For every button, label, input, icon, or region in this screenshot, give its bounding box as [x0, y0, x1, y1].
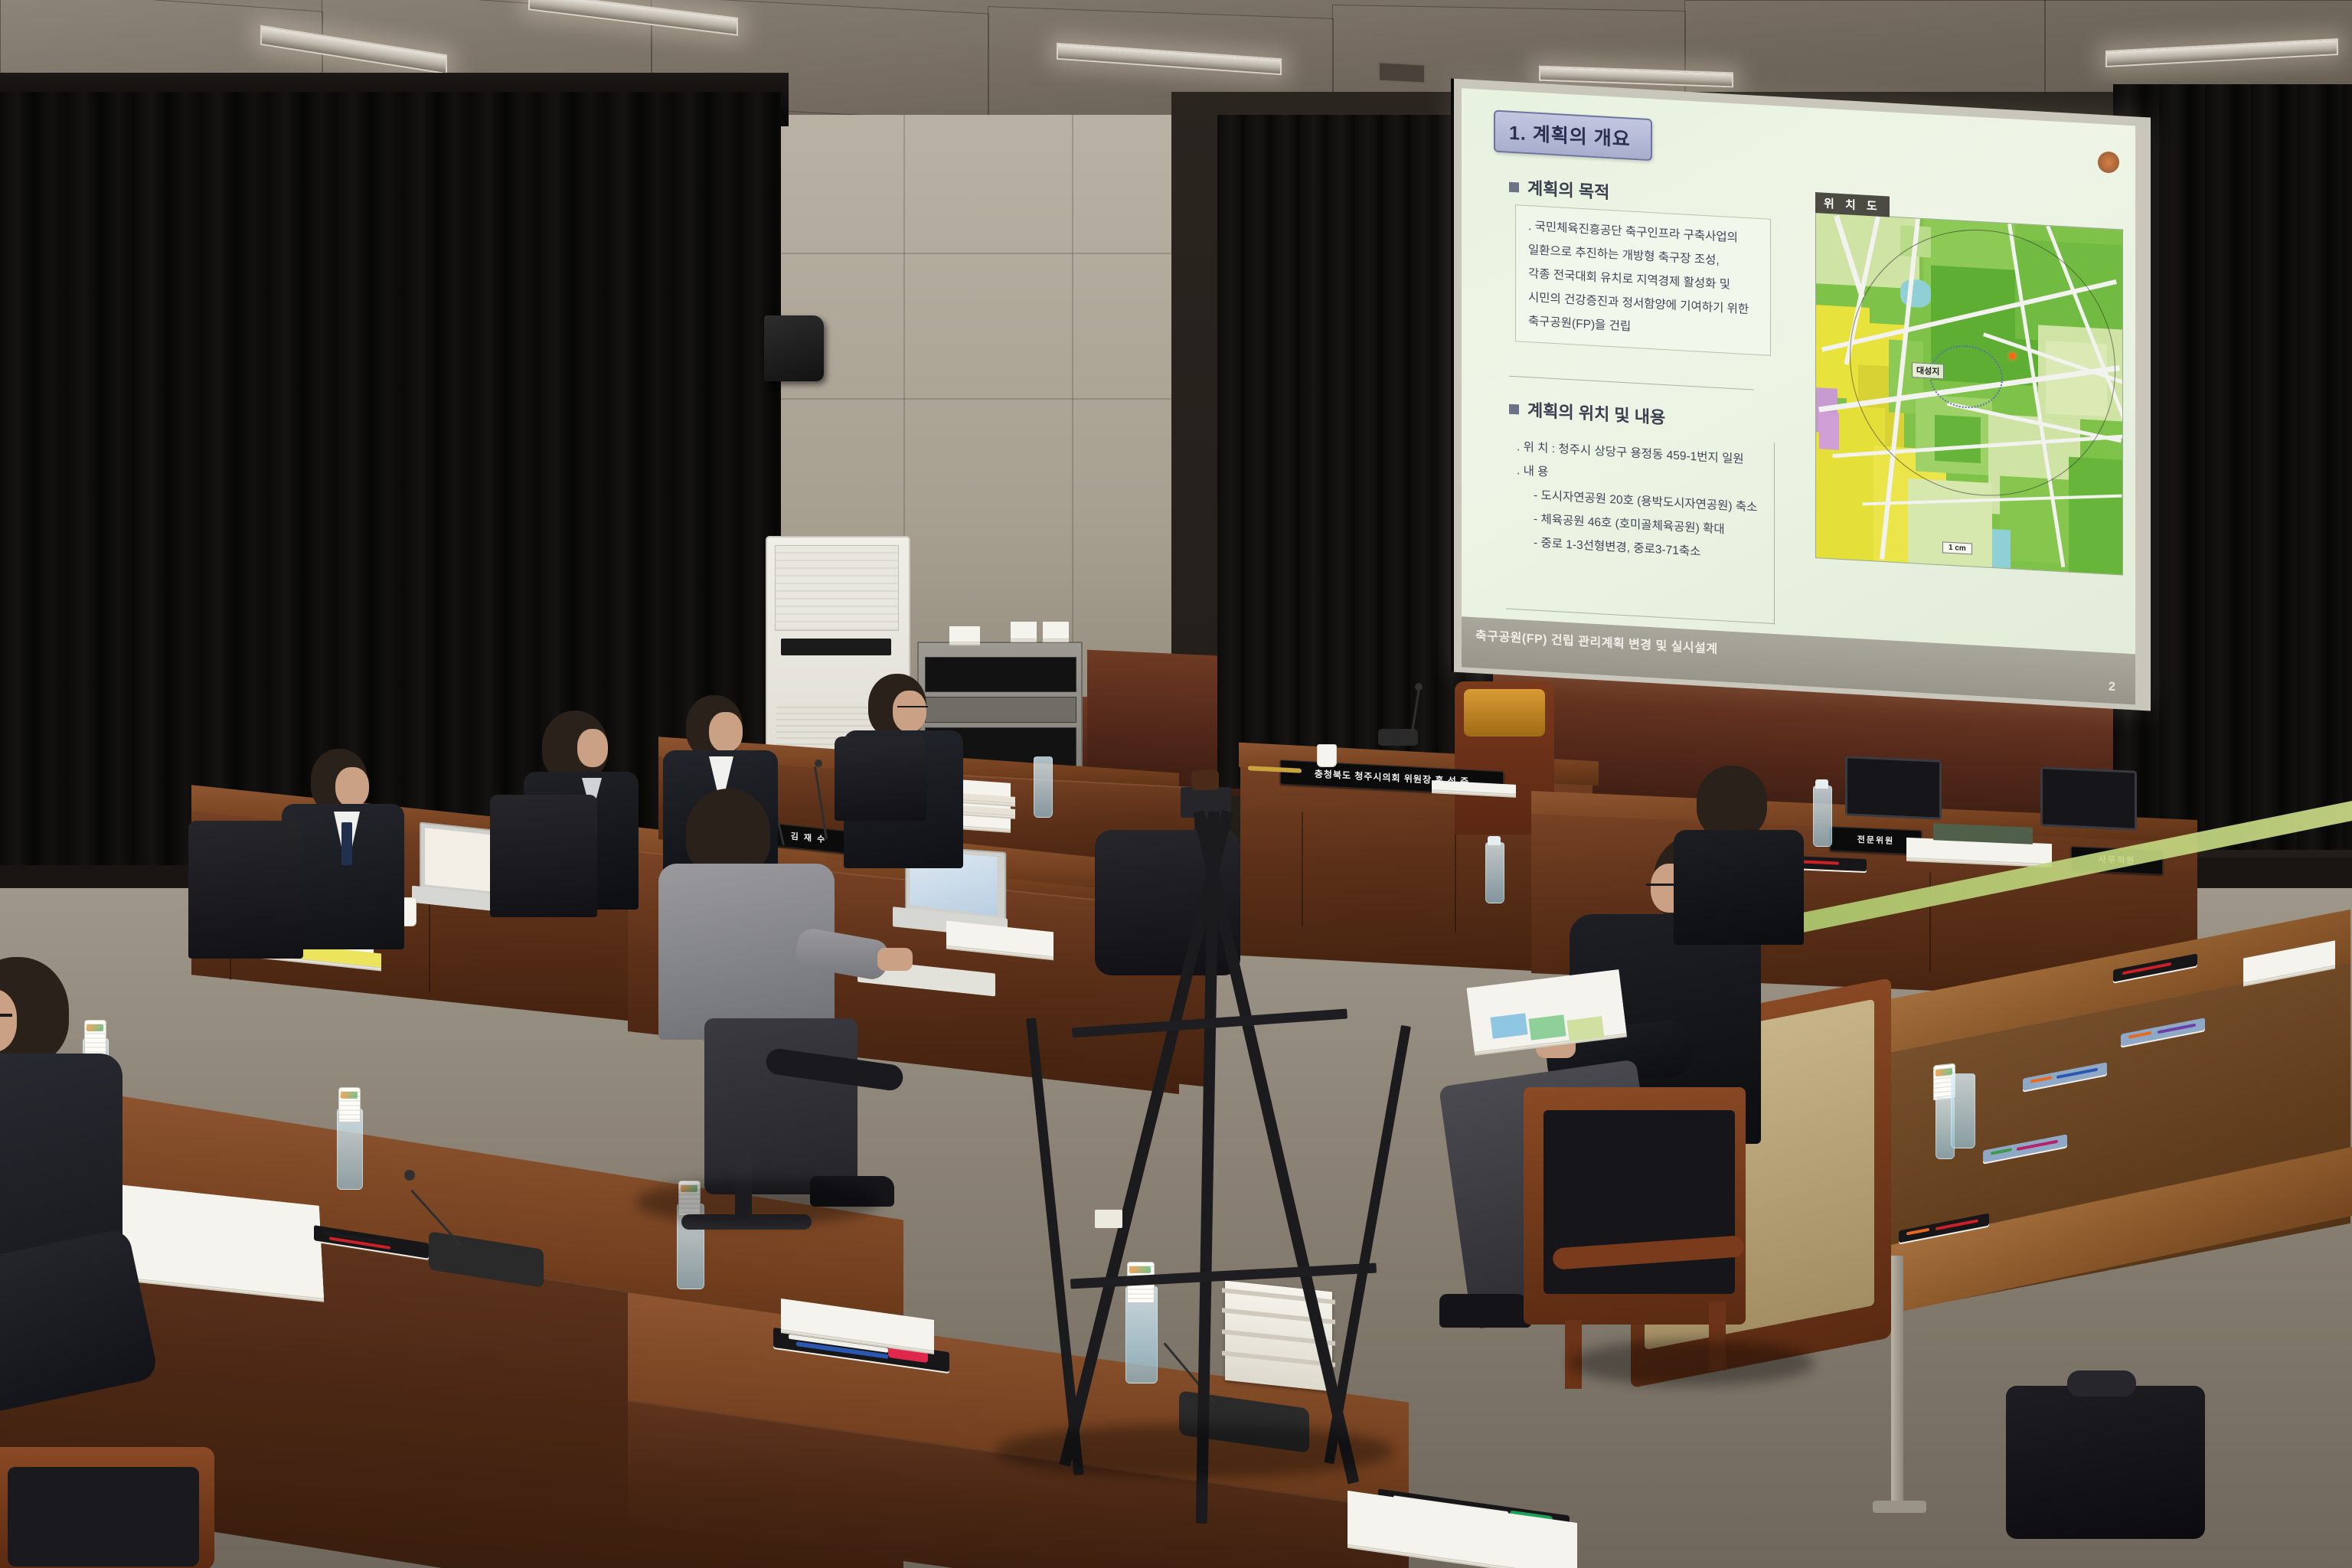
paper-cup	[1317, 744, 1337, 767]
wall-seam	[750, 253, 1225, 254]
floor-shadow	[1570, 1340, 1815, 1386]
slide-divider-vertical	[1774, 443, 1775, 625]
ac-grill	[775, 545, 899, 631]
ac-display	[781, 639, 891, 655]
bag-handle	[2067, 1370, 2136, 1396]
council-chamber-photo: 1. 계획의 개요 계획의 목적 . 국민체육진흥공단 축구인프라 구축사업의 …	[0, 0, 2352, 1568]
necktie	[341, 822, 352, 865]
slide-section-purpose: 계획의 목적	[1509, 174, 1609, 204]
rack-top-paper	[1043, 622, 1069, 639]
microphone-head	[1415, 683, 1423, 691]
brochure-image	[1528, 1014, 1566, 1040]
hand	[877, 948, 913, 971]
slide-page-number: 2	[2109, 680, 2115, 694]
camera-bag	[2006, 1386, 2205, 1539]
slide-divider	[1509, 376, 1754, 390]
head	[1697, 766, 1767, 839]
water-bottle	[1813, 786, 1832, 847]
slide-purpose-box: . 국민체육진흥공단 축구인프라 구축사업의 일환으로 추진하는 개방형 축구장…	[1515, 204, 1771, 356]
projection-screen: 1. 계획의 개요 계획의 목적 . 국민체육진흥공단 축구인프라 구축사업의 …	[1451, 78, 2151, 710]
wall-seam	[750, 398, 1225, 400]
wall-speaker-icon	[764, 315, 824, 381]
brochure-image	[1490, 1013, 1527, 1038]
cup-stack	[338, 1087, 361, 1122]
rack-top-paper	[949, 626, 980, 642]
projected-slide: 1. 계획의 개요 계획의 목적 . 국민체육진흥공단 축구인프라 구축사업의 …	[1462, 88, 2135, 654]
eyeglasses-icon	[897, 706, 928, 707]
office-chair	[188, 821, 303, 959]
table-leg	[1891, 1256, 1903, 1508]
microphone-head	[404, 1170, 415, 1181]
floor-shadow	[635, 1179, 880, 1225]
wall-seam	[1072, 115, 1073, 697]
tripod-label	[1095, 1210, 1122, 1228]
office-chair	[490, 795, 597, 917]
tripod-mount	[1191, 770, 1219, 790]
monitor-expert	[1845, 756, 1942, 820]
rack-top-paper	[1011, 622, 1037, 639]
water-bottle	[1034, 756, 1053, 818]
head	[686, 789, 770, 874]
monitor-staff	[2040, 766, 2137, 831]
map-scale-label: 1 cm	[1942, 541, 1972, 554]
face	[893, 691, 926, 732]
bottle-cap	[1815, 779, 1828, 789]
face	[335, 767, 369, 807]
eyeglasses-icon	[0, 1014, 12, 1017]
map-site-marker	[2009, 352, 2016, 360]
brochure-image	[1566, 1016, 1604, 1041]
face	[709, 712, 743, 752]
bottle-cap	[1488, 836, 1501, 845]
location-map: 대성지 1 cm	[1815, 212, 2123, 575]
trousers	[704, 1018, 857, 1194]
chair-seat	[8, 1467, 199, 1566]
chairman-chair-cushion	[1464, 689, 1545, 737]
slide-title: 1. 계획의 개요	[1494, 110, 1652, 162]
microphone-head	[815, 759, 822, 767]
slide-location-box: . 위 치 : 청주시 상당구 용정동 459-1번지 일원 . 내 용 - 도…	[1509, 426, 1789, 577]
screen-emblem-icon	[2098, 152, 2119, 173]
table-foot	[1873, 1501, 1926, 1513]
water-bottle	[1485, 842, 1504, 903]
face	[577, 729, 608, 767]
slide-section-location: 계획의 위치 및 내용	[1509, 396, 1665, 429]
ceiling-tile	[1684, 0, 2046, 101]
ceiling-vent	[1378, 61, 1426, 83]
suit-torso	[1674, 830, 1804, 945]
map-site-label: 대성지	[1912, 362, 1944, 379]
shoe	[1439, 1294, 1531, 1328]
water-bottle	[1951, 1073, 1975, 1148]
office-chair	[835, 737, 926, 821]
floor-shadow	[995, 1424, 1393, 1478]
map-title-label: 위 치 도	[1815, 192, 1890, 217]
cup-stack	[84, 1020, 106, 1055]
